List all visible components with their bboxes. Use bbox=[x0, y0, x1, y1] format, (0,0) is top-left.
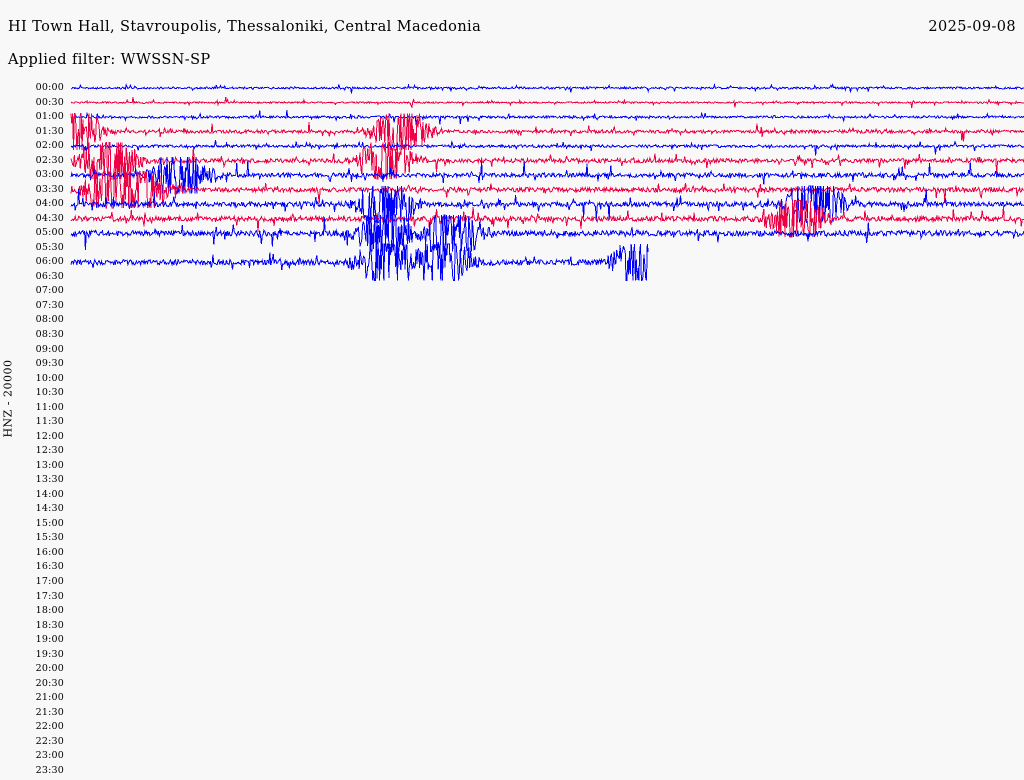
trace-0400 bbox=[71, 186, 1024, 222]
trace-canvas bbox=[0, 0, 1024, 780]
seismogram-traces bbox=[0, 0, 1024, 780]
helicorder-plot: 00:0000:3001:0001:3002:0002:3003:0003:30… bbox=[0, 0, 1024, 780]
trace-0130 bbox=[71, 113, 1024, 149]
trace-0100 bbox=[71, 110, 1024, 125]
trace-0600 bbox=[71, 244, 648, 280]
trace-0030 bbox=[71, 97, 1024, 108]
trace-0000 bbox=[71, 85, 1024, 94]
trace-0230 bbox=[71, 143, 1024, 179]
trace-0200 bbox=[71, 140, 1024, 155]
